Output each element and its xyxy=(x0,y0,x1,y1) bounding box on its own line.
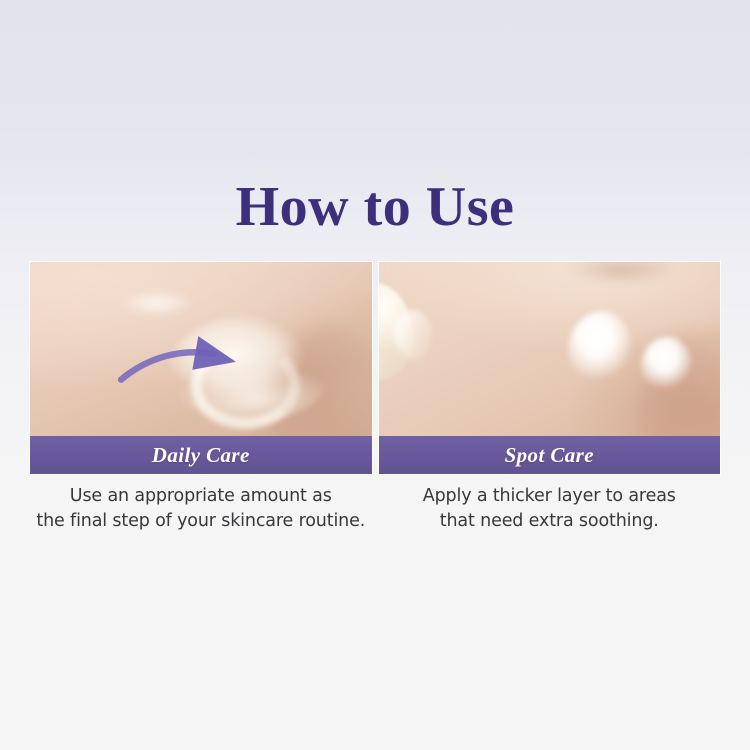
daily-care-photo xyxy=(30,262,372,436)
steps-description-row: Use an appropriate amount as the final s… xyxy=(30,484,720,534)
page-title: How to Use xyxy=(236,176,515,238)
daily-care-description-line-2: the final step of your skincare routine. xyxy=(30,509,372,534)
spot-care-photo xyxy=(379,262,721,436)
step-panel-daily-care[interactable]: Daily Care xyxy=(30,262,372,474)
daily-care-caption-bar: Daily Care xyxy=(30,436,372,474)
spot-care-caption-label: Spot Care xyxy=(505,443,594,468)
spot-care-description: Apply a thicker layer to areas that need… xyxy=(379,484,721,534)
steps-panel-row: Daily Care Spot Care xyxy=(30,262,720,474)
infographic-root: How to Use Daily Care xyxy=(0,0,750,750)
daily-care-description-line-1: Use an appropriate amount as xyxy=(30,484,372,509)
page-title-wrapper: How to Use xyxy=(0,176,750,238)
spot-care-description-line-2: that need extra soothing. xyxy=(379,509,721,534)
spot-care-description-line-1: Apply a thicker layer to areas xyxy=(379,484,721,509)
step-panel-spot-care[interactable]: Spot Care xyxy=(379,262,721,474)
daily-care-description: Use an appropriate amount as the final s… xyxy=(30,484,372,534)
daily-care-caption-label: Daily Care xyxy=(152,443,250,468)
spot-care-caption-bar: Spot Care xyxy=(379,436,721,474)
cream-dab-small xyxy=(641,337,692,396)
spread-direction-arrow-icon xyxy=(30,262,372,436)
cream-dab-large xyxy=(568,311,633,389)
